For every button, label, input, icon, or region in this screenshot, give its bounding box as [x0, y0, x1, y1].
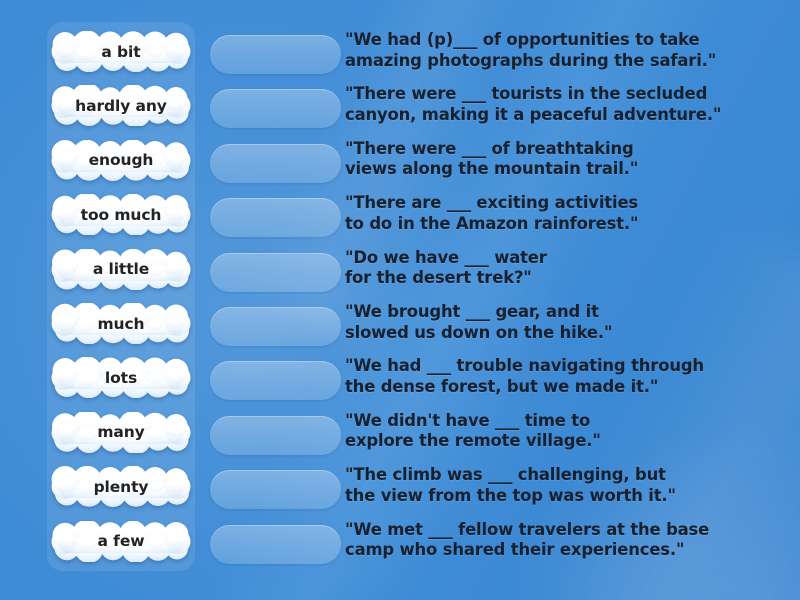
prompt-line: explore the remote village.": [345, 431, 795, 452]
prompt-line: for the desert trek?": [345, 268, 795, 289]
prompt-sentence: "We didn't have ___ time toexplore the r…: [345, 411, 795, 452]
prompt-sentence: "We had ___ trouble navigating throughth…: [345, 356, 795, 397]
prompt-line: "We had (p)___ of opportunities to take: [345, 30, 795, 51]
prompt-line: the view from the top was worth it.": [345, 486, 795, 507]
prompt-sentence: "There are ___ exciting activitiesto do …: [345, 193, 795, 234]
word-tile[interactable]: enough: [51, 140, 191, 181]
word-tile-label: too much: [81, 206, 162, 224]
word-tile-label: hardly any: [75, 97, 167, 115]
drop-zone[interactable]: [210, 416, 341, 455]
prompt-line: camp who shared their experiences.": [345, 540, 795, 561]
word-tile-label: lots: [105, 369, 137, 387]
word-tile-label: a bit: [101, 43, 140, 61]
word-tile[interactable]: too much: [51, 194, 191, 235]
word-tile-label: plenty: [94, 478, 149, 496]
activity-canvas: a bithardly anyenoughtoo mucha littlemuc…: [0, 0, 800, 600]
prompt-line: "There were ___ of breathtaking: [345, 139, 795, 160]
prompt-line: canyon, making it a peaceful adventure.": [345, 105, 795, 126]
word-tile[interactable]: hardly any: [51, 85, 191, 126]
drop-zone[interactable]: [210, 144, 341, 183]
word-tile-label: many: [97, 423, 144, 441]
prompt-line: "We met ___ fellow travelers at the base: [345, 520, 795, 541]
prompt-line: "We didn't have ___ time to: [345, 411, 795, 432]
prompt-line: the dense forest, but we made it.": [345, 377, 795, 398]
drop-zone[interactable]: [210, 253, 341, 292]
word-tile-label: much: [97, 315, 144, 333]
drop-zone[interactable]: [210, 525, 341, 564]
prompt-sentence: "We brought ___ gear, and itslowed us do…: [345, 302, 795, 343]
prompt-line: "There were ___ tourists in the secluded: [345, 84, 795, 105]
prompt-line: to do in the Amazon rainforest.": [345, 214, 795, 235]
drop-zone[interactable]: [210, 307, 341, 346]
prompt-line: "We brought ___ gear, and it: [345, 302, 795, 323]
word-tile-label: enough: [89, 151, 154, 169]
drop-zone[interactable]: [210, 35, 341, 74]
prompt-line: amazing photographs during the safari.": [345, 51, 795, 72]
word-tile[interactable]: many: [51, 412, 191, 453]
word-tile[interactable]: plenty: [51, 466, 191, 507]
prompt-line: "The climb was ___ challenging, but: [345, 465, 795, 486]
prompt-sentence: "There were ___ tourists in the secluded…: [345, 84, 795, 125]
word-tile[interactable]: a little: [51, 249, 191, 290]
word-tile[interactable]: much: [51, 303, 191, 344]
prompt-sentence: "The climb was ___ challenging, butthe v…: [345, 465, 795, 506]
word-tile[interactable]: a few: [51, 521, 191, 562]
drop-zone[interactable]: [210, 361, 341, 400]
prompt-sentence: "We met ___ fellow travelers at the base…: [345, 520, 795, 561]
word-tile[interactable]: a bit: [51, 31, 191, 72]
prompt-line: "There are ___ exciting activities: [345, 193, 795, 214]
prompt-line: views along the mountain trail.": [345, 159, 795, 180]
prompt-line: "We had ___ trouble navigating through: [345, 356, 795, 377]
word-tile-label: a few: [98, 532, 145, 550]
prompt-sentence: "We had (p)___ of opportunities to takea…: [345, 30, 795, 71]
drop-zone[interactable]: [210, 198, 341, 237]
prompt-sentence: "Do we have ___ waterfor the desert trek…: [345, 248, 795, 289]
prompt-sentence: "There were ___ of breathtakingviews alo…: [345, 139, 795, 180]
prompt-line: slowed us down on the hike.": [345, 323, 795, 344]
prompt-line: "Do we have ___ water: [345, 248, 795, 269]
word-tile[interactable]: lots: [51, 357, 191, 398]
drop-zone[interactable]: [210, 89, 341, 128]
drop-zone[interactable]: [210, 470, 341, 509]
word-tile-label: a little: [93, 260, 149, 278]
